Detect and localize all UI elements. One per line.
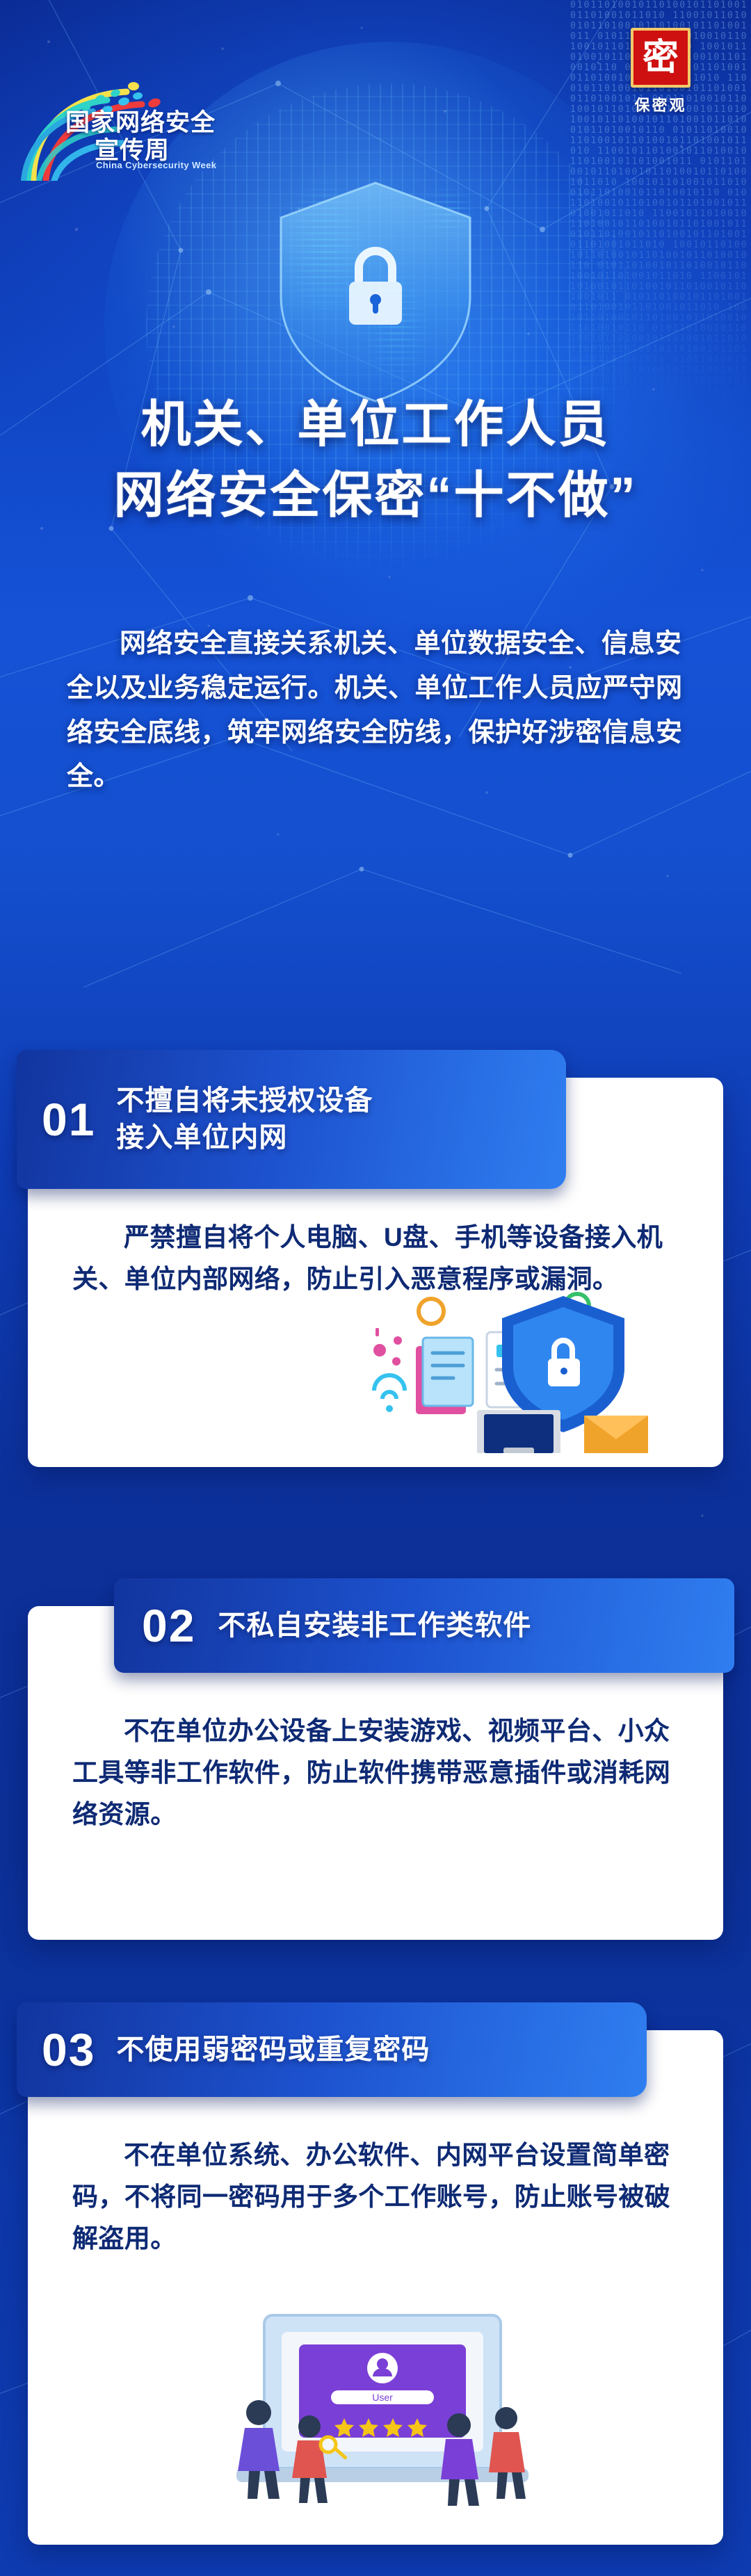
hero-shield-area	[271, 177, 480, 407]
item-01-number: 01	[42, 1096, 95, 1142]
baomiguan-logo: 密 保密观	[619, 28, 702, 115]
item-01-heading-line2: 接入单位内网	[116, 1119, 373, 1156]
svg-text:User: User	[372, 2392, 393, 2403]
item-02-tab: 02 不私自安装非工作类软件	[114, 1578, 734, 1673]
seal-logo-label: 保密观	[619, 93, 702, 115]
shield-lock-documents-monitor-envelope-icon	[355, 1286, 681, 1453]
item-card-02: 不在单位办公设备上安装游戏、视频平台、小众工具等非工作软件，防止软件携带恶意插件…	[17, 1578, 734, 1968]
shield-lock-icon	[271, 177, 480, 407]
title-line-1: 机关、单位工作人员	[0, 389, 751, 460]
item-02-heading-line1: 不私自安装非工作类软件	[218, 1607, 531, 1644]
item-01-tab: 01 不擅自将未授权设备 接入单位内网	[17, 1050, 566, 1189]
red-seal-icon: 密	[631, 28, 691, 88]
item-03-number: 03	[42, 2027, 95, 2073]
laptop-login-user-password-people-icon: User	[167, 2308, 598, 2531]
item-01-heading-line1: 不擅自将未授权设备	[116, 1083, 373, 1119]
intro-paragraph: 网络安全直接关系机关、单位数据安全、信息安全以及业务稳定运行。机关、单位工作人员…	[67, 622, 684, 800]
item-03-tab: 03 不使用弱密码或重复密码	[17, 2002, 647, 2097]
item-02-number: 02	[142, 1603, 195, 1649]
item-02-body: 不在单位办公设备上安装游戏、视频平台、小众工具等非工作软件，防止软件携带恶意插件…	[72, 1710, 684, 1836]
item-03-body: 不在单位系统、办公软件、内网平台设置简单密码，不将同一密码用于多个工作账号，防止…	[72, 2134, 684, 2260]
title-line-2: 网络安全保密“十不做”	[0, 460, 751, 531]
item-03-panel: 不在单位系统、办公软件、内网平台设置简单密码，不将同一密码用于多个工作账号，防止…	[28, 2030, 723, 2545]
item-03-heading-line1: 不使用弱密码或重复密码	[116, 2032, 430, 2068]
item-card-03: 不在单位系统、办公软件、内网平台设置简单密码，不将同一密码用于多个工作账号，防止…	[17, 2002, 734, 2573]
cybersecurity-week-logo: 国家网络安全 宣传周 China Cybersecurity Week	[18, 76, 248, 181]
logo-english-subtitle: China Cybersecurity Week	[96, 160, 216, 170]
item-card-01: 严禁擅自将个人电脑、U盘、手机等设备接入机关、单位内部网络，防止引入恶意程序或漏…	[17, 1050, 734, 1495]
seal-character: 密	[643, 40, 679, 76]
page-title: 机关、单位工作人员 网络安全保密“十不做”	[0, 389, 751, 531]
